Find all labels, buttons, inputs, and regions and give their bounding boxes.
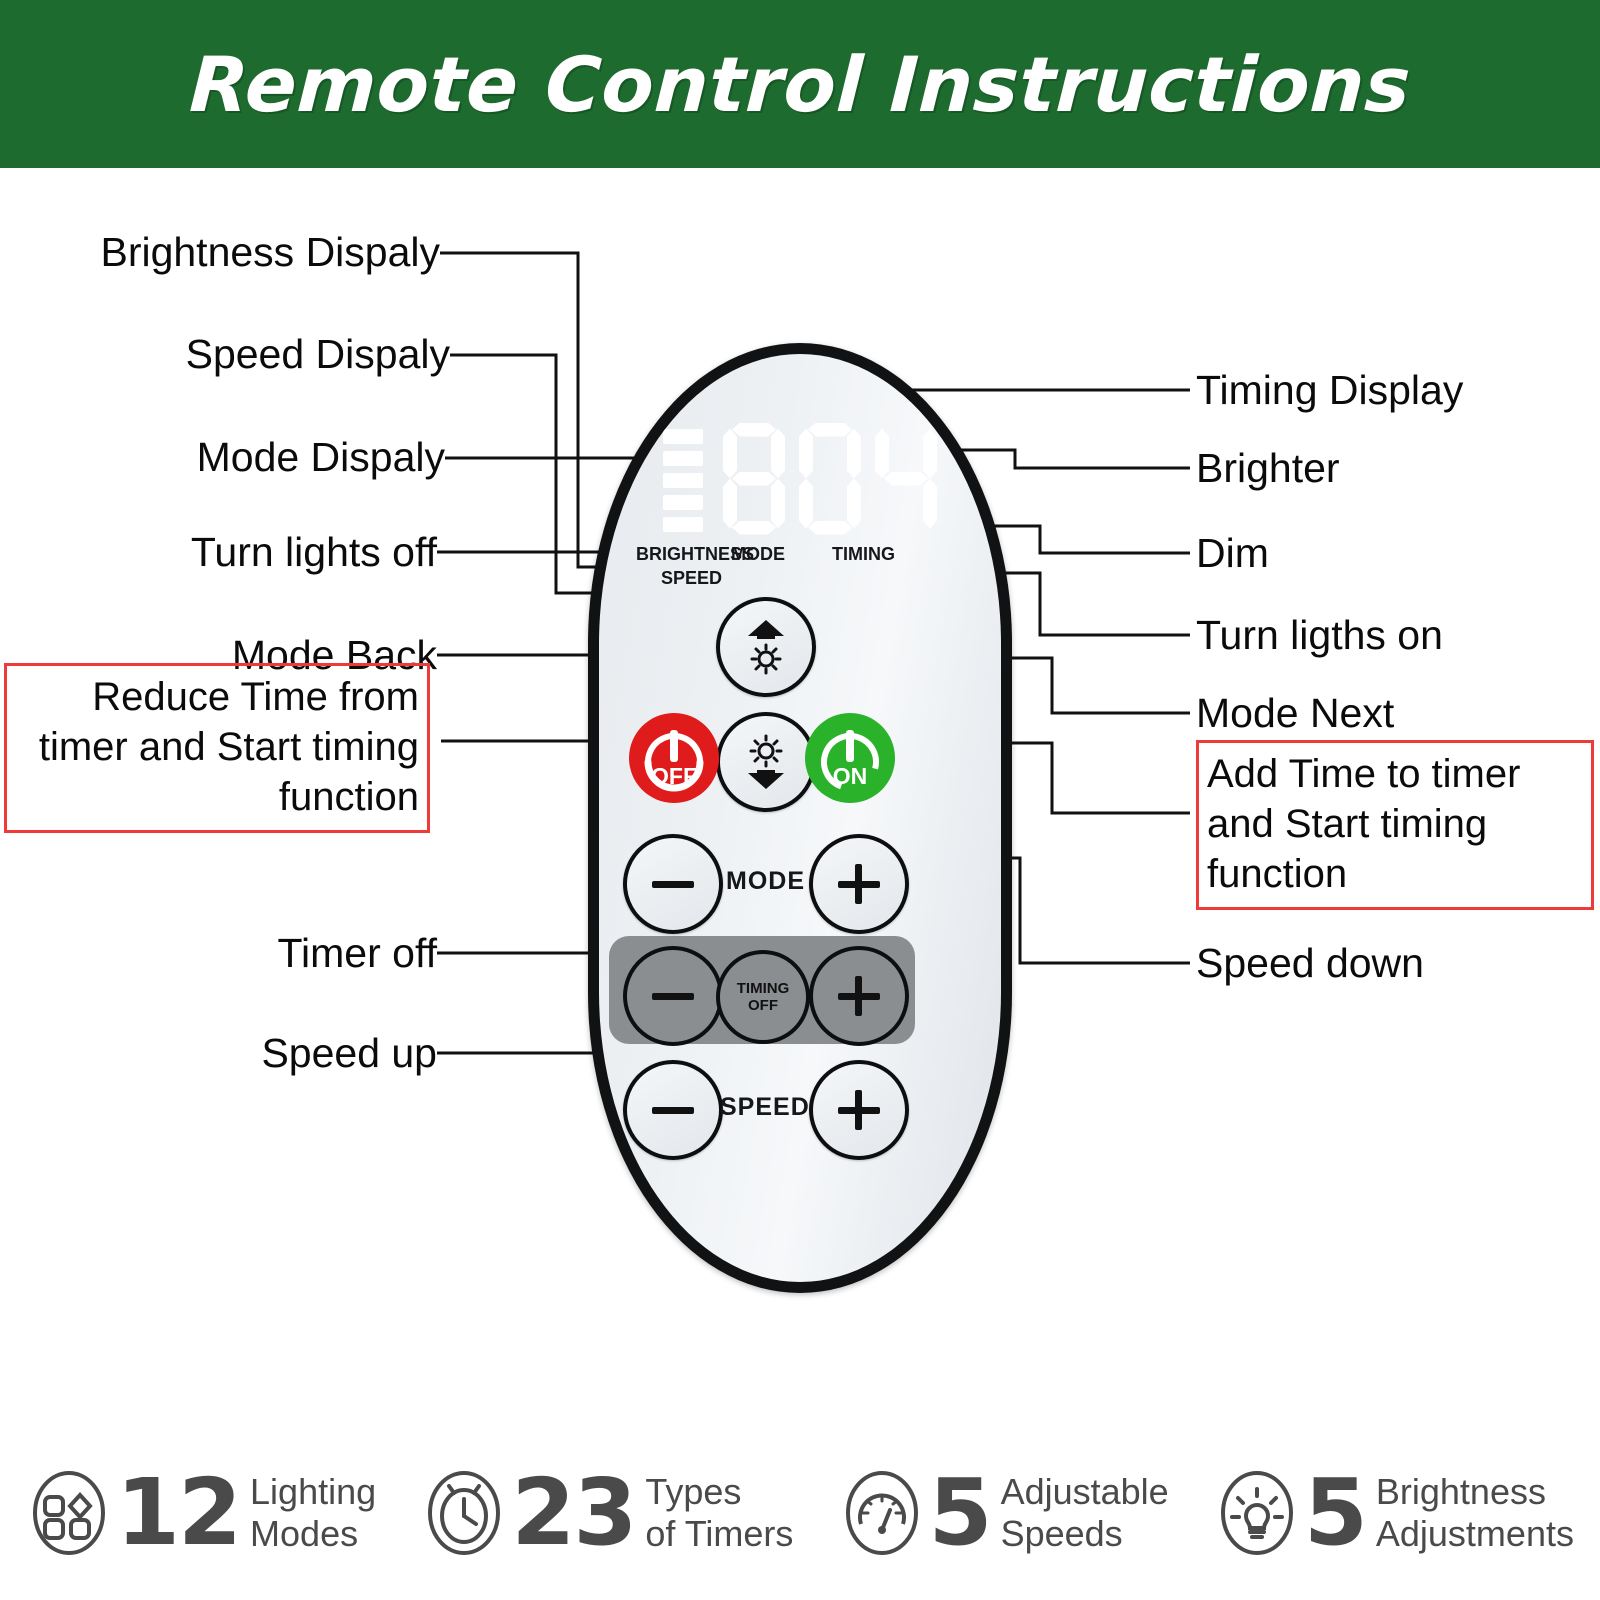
lcd-digit-1 bbox=[723, 423, 785, 535]
callout-speed-up: Speed up bbox=[10, 1029, 437, 1077]
callout-speed-down: Speed down bbox=[1196, 939, 1424, 987]
callout-speed-display: Speed Dispaly bbox=[10, 330, 450, 378]
brighter-sun-up-icon bbox=[734, 615, 798, 679]
feature-line1: Lighting bbox=[250, 1471, 376, 1513]
diagram-stage: BRIGHTNESS SPEED MODE TIMING bbox=[0, 168, 1600, 1398]
callout-timer-off: Timer off bbox=[10, 929, 437, 977]
callout-dim: Dim bbox=[1196, 529, 1269, 577]
lcd-display bbox=[599, 416, 1001, 541]
callout-brighter: Brighter bbox=[1196, 444, 1340, 492]
turn-lights-on-button[interactable]: ON bbox=[804, 712, 896, 804]
brighter-button[interactable] bbox=[716, 597, 816, 697]
feature-line2: of Timers bbox=[645, 1513, 793, 1555]
feature-line2: Speeds bbox=[1001, 1513, 1169, 1555]
brightness-speed-bar-indicator bbox=[663, 429, 703, 532]
printed-label-mode: MODE bbox=[731, 544, 785, 565]
printed-label-speed: SPEED bbox=[661, 568, 722, 589]
callout-add-time: Add Time to timer and Start timing funct… bbox=[1196, 740, 1594, 910]
plus-icon bbox=[836, 973, 882, 1019]
brightness-bulb-icon bbox=[1214, 1470, 1300, 1556]
speed-gauge-icon bbox=[839, 1470, 925, 1556]
feature-timer-types: 23 Types of Timers bbox=[421, 1467, 793, 1559]
mode-back-button[interactable] bbox=[623, 834, 723, 934]
feature-number: 5 bbox=[929, 1467, 991, 1559]
callout-turn-lights-on: Turn ligths on bbox=[1196, 611, 1443, 659]
plus-icon bbox=[836, 861, 882, 907]
mode-row-label: MODE bbox=[726, 867, 805, 896]
power-on-icon: ON bbox=[804, 712, 896, 804]
lcd-legend-row: BRIGHTNESS SPEED MODE TIMING bbox=[599, 544, 1001, 600]
feature-lighting-modes: 12 Lighting Modes bbox=[26, 1467, 376, 1559]
timing-off-label: TIMING OFF bbox=[737, 980, 790, 1014]
feature-line2: Modes bbox=[250, 1513, 376, 1555]
callout-turn-lights-off: Turn lights off bbox=[10, 528, 437, 576]
timing-off-line2: OFF bbox=[748, 997, 778, 1014]
speed-down-button[interactable] bbox=[809, 1060, 909, 1160]
dim-button[interactable] bbox=[716, 712, 816, 812]
feature-text: Adjustable Speeds bbox=[995, 1471, 1169, 1555]
add-time-button[interactable] bbox=[809, 946, 909, 1046]
speed-row-label: SPEED bbox=[720, 1093, 810, 1122]
plus-icon bbox=[836, 1087, 882, 1133]
remote-face: BRIGHTNESS SPEED MODE TIMING bbox=[599, 354, 1001, 1282]
feature-adjustable-speeds: 5 Adjustable Speeds bbox=[839, 1467, 1169, 1559]
page-header: Remote Control Instructions bbox=[0, 0, 1600, 168]
printed-label-timing: TIMING bbox=[832, 544, 895, 565]
page-title: Remote Control Instructions bbox=[187, 40, 1412, 129]
feature-line2: Adjustments bbox=[1376, 1513, 1574, 1555]
lighting-modes-icon bbox=[26, 1470, 112, 1556]
feature-line1: Brightness bbox=[1376, 1471, 1574, 1513]
timing-off-line1: TIMING bbox=[737, 980, 790, 997]
feature-number: 23 bbox=[511, 1467, 635, 1559]
on-button-text: ON bbox=[833, 763, 868, 789]
remote-control-device: BRIGHTNESS SPEED MODE TIMING bbox=[588, 343, 1012, 1293]
timing-off-button[interactable]: TIMING OFF bbox=[716, 950, 810, 1044]
feature-line1: Types bbox=[645, 1471, 793, 1513]
dim-sun-down-icon bbox=[734, 730, 798, 794]
turn-lights-off-button[interactable]: OFF bbox=[628, 712, 720, 804]
reduce-time-button[interactable] bbox=[623, 946, 723, 1046]
lcd-digit-2 bbox=[799, 423, 861, 535]
callout-timing-display: Timing Display bbox=[1196, 366, 1463, 414]
feature-brightness-adjustments: 5 Brightness Adjustments bbox=[1214, 1467, 1574, 1559]
off-button-text: OFF bbox=[651, 763, 697, 789]
callout-brightness-display: Brightness Dispaly bbox=[10, 228, 440, 276]
minus-icon bbox=[650, 973, 696, 1019]
callout-mode-next: Mode Next bbox=[1196, 689, 1394, 737]
minus-icon bbox=[650, 861, 696, 907]
callout-mode-display: Mode Dispaly bbox=[10, 433, 445, 481]
feature-text: Lighting Modes bbox=[244, 1471, 376, 1555]
mode-next-button[interactable] bbox=[809, 834, 909, 934]
feature-text: Brightness Adjustments bbox=[1370, 1471, 1574, 1555]
feature-number: 12 bbox=[116, 1467, 240, 1559]
callout-reduce-time: Reduce Time from timer and Start timing … bbox=[4, 663, 430, 833]
minus-icon bbox=[650, 1087, 696, 1133]
power-off-icon: OFF bbox=[628, 712, 720, 804]
feature-number: 5 bbox=[1304, 1467, 1366, 1559]
timer-clock-icon bbox=[421, 1470, 507, 1556]
feature-text: Types of Timers bbox=[639, 1471, 793, 1555]
feature-line1: Adjustable bbox=[1001, 1471, 1169, 1513]
feature-strip: 12 Lighting Modes 23 Types of Timers bbox=[0, 1425, 1600, 1600]
lcd-digit-3 bbox=[875, 423, 937, 535]
speed-up-button[interactable] bbox=[623, 1060, 723, 1160]
